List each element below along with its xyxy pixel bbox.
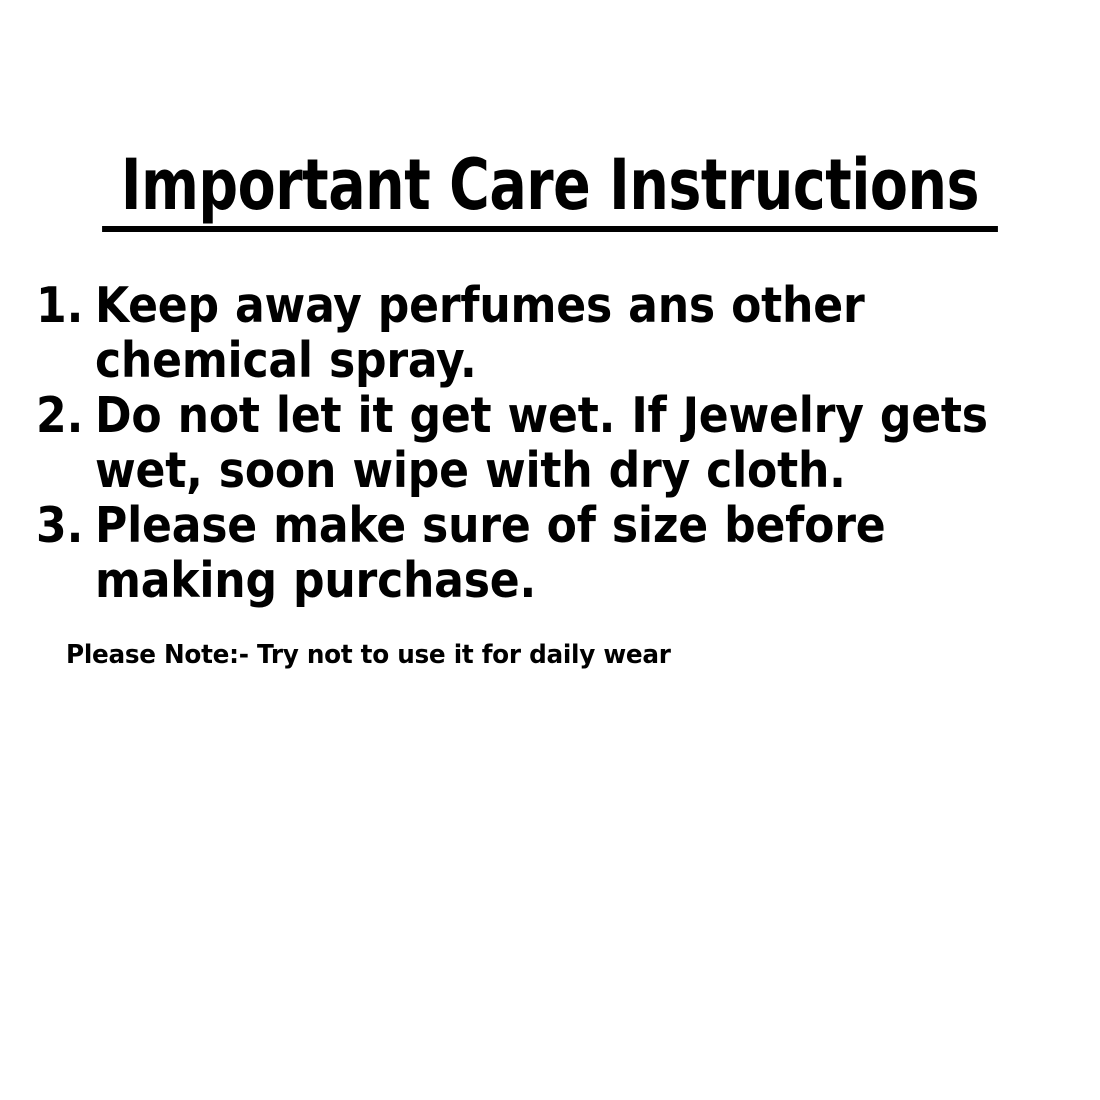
instructions-list: 1. Keep away perfumes ans other chemical… (36, 278, 1066, 608)
list-item-text: Keep away perfumes ans other chemical sp… (95, 278, 1066, 388)
footer-note-text: Please Note:- Try not to use it for dail… (66, 639, 671, 671)
page-title-text: Important Care Instructions (102, 148, 998, 232)
list-item: 3. Please make sure of size before makin… (36, 498, 1066, 608)
list-item-marker: 2. (36, 388, 95, 443)
footer-note: Please Note:- Try not to use it for dail… (66, 639, 966, 671)
list-item-text: Do not let it get wet. If Jewelry gets w… (95, 388, 1066, 498)
care-instructions-card: Important Care Instructions 1. Keep away… (0, 0, 1100, 1100)
list-item: 2. Do not let it get wet. If Jewelry get… (36, 388, 1066, 498)
list-item-marker: 3. (36, 498, 95, 553)
blank-lower-area (0, 690, 1100, 1100)
list-item: 1. Keep away perfumes ans other chemical… (36, 278, 1066, 388)
list-item-marker: 1. (36, 278, 95, 333)
page-title: Important Care Instructions (0, 148, 1100, 232)
list-item-text: Please make sure of size before making p… (95, 498, 1066, 608)
